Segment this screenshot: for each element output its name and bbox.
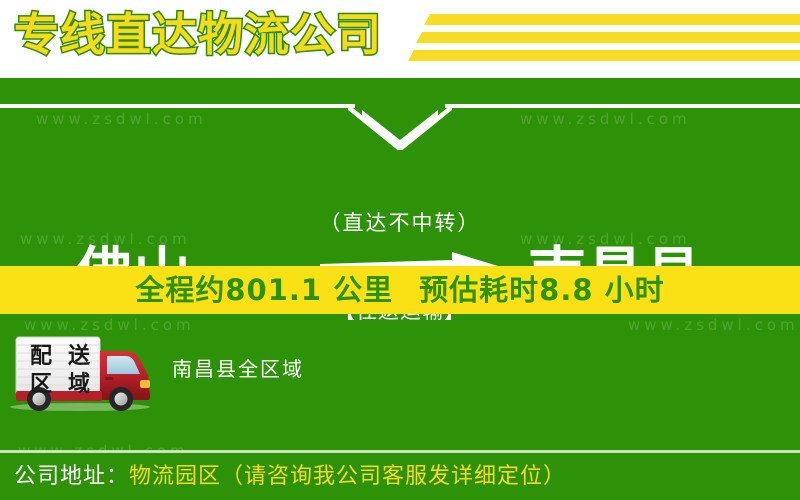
truck-box-char-4: 域 xyxy=(68,372,90,398)
delivery-area-row: 配 送 区 域 南昌县全区域 xyxy=(0,333,800,418)
direct-service-label: （直达不中转） xyxy=(275,208,525,238)
stripe-1 xyxy=(424,14,800,25)
divider-line-left xyxy=(0,104,355,108)
route-info-bar: 全程约801.1 公里 预估耗时8.8 小时 xyxy=(0,266,800,314)
truck-box-char-3: 区 xyxy=(30,372,52,398)
watermark: www.zsdwl.com xyxy=(24,316,195,334)
chevron-down-icon xyxy=(348,104,452,150)
stripe-2 xyxy=(416,32,800,43)
duration-text: 预估耗时8.8 小时 xyxy=(419,270,664,310)
divider-with-chevron xyxy=(0,104,800,152)
address-label: 公司地址： xyxy=(14,462,129,492)
watermark: www.zsdwl.com xyxy=(628,316,799,334)
address-value: 物流园区（请咨询我公司客服发详细定位） xyxy=(129,462,566,492)
logistics-banner: 专线直达物流公司 www.zsdwl.com www.zsdwl.com www… xyxy=(0,0,800,500)
truck-box-label: 配 送 区 域 xyxy=(22,343,98,399)
company-title: 专线直达物流公司 xyxy=(14,6,382,64)
header-stripes-decoration xyxy=(415,14,800,66)
banner-body: www.zsdwl.com www.zsdwl.com www.zsdwl.co… xyxy=(0,78,800,500)
coverage-area-text: 南昌县全区域 xyxy=(172,355,304,383)
truck-box-char-1: 配 xyxy=(30,344,52,370)
banner-header: 专线直达物流公司 xyxy=(0,0,800,78)
banner-footer: 公司地址： 物流园区（请咨询我公司客服发详细定位） xyxy=(0,453,800,500)
stripe-3 xyxy=(408,50,800,61)
distance-text: 全程约801.1 公里 xyxy=(135,270,393,310)
truck-box-char-2: 送 xyxy=(68,344,90,370)
divider-line-right xyxy=(445,104,800,108)
